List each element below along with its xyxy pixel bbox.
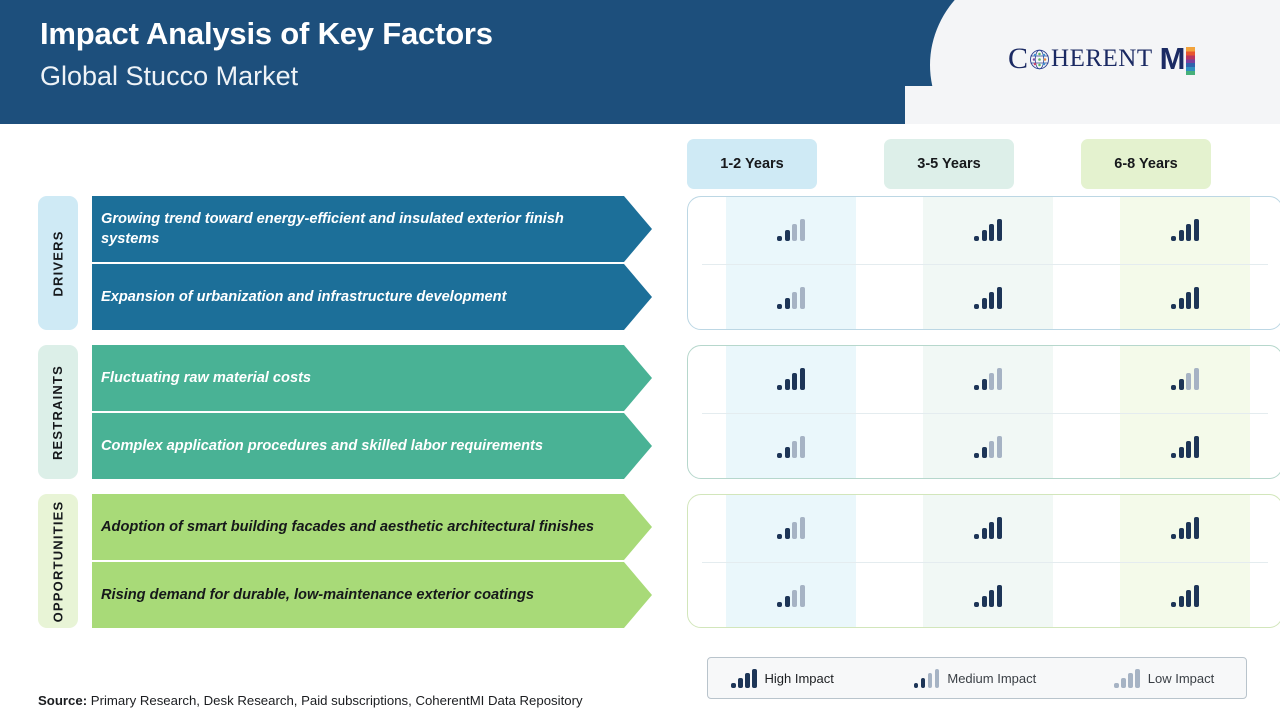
factor-banner-arrow-tip: [624, 494, 652, 560]
factor-banner-arrow-tip: [624, 264, 652, 330]
impact-matrix-restraints: [687, 345, 1280, 479]
impact-bar: [745, 673, 750, 688]
impact-bar: [800, 368, 805, 390]
factor-banner-arrow-tip: [624, 196, 652, 262]
impact-cell: [1120, 495, 1250, 561]
impact-cell: [726, 265, 856, 331]
factor-banner-body: Rising demand for durable, low-maintenan…: [92, 562, 624, 628]
impact-bar: [1186, 224, 1191, 241]
impact-bar: [997, 219, 1002, 241]
factor-banner-list: Adoption of smart building facades and a…: [92, 494, 652, 628]
impact-bar: [1179, 379, 1184, 390]
high-impact-bars-icon: [731, 669, 757, 688]
title-block: Impact Analysis of Key Factors Global St…: [40, 12, 493, 96]
page-title: Impact Analysis of Key Factors: [40, 12, 493, 56]
medium-impact-bars-icon: [777, 436, 805, 458]
high-impact-bars-icon: [974, 517, 1002, 539]
impact-cell: [923, 414, 1053, 480]
factor-banner-arrow-tip: [624, 562, 652, 628]
impact-bar: [974, 236, 979, 241]
impact-bar: [1179, 596, 1184, 607]
impact-cell: [1120, 563, 1250, 629]
impact-cell: [923, 495, 1053, 561]
impact-bar: [785, 379, 790, 390]
impact-bar: [1179, 528, 1184, 539]
high-impact-bars-icon: [1171, 219, 1199, 241]
factor-banner[interactable]: Growing trend toward energy-efficient an…: [92, 196, 652, 262]
impact-cell: [923, 346, 1053, 412]
impact-cell: [1120, 346, 1250, 412]
impact-bar: [997, 287, 1002, 309]
medium-impact-bars-icon: [974, 368, 1002, 390]
impact-bar: [792, 224, 797, 241]
impact-bar: [1186, 522, 1191, 539]
impact-bar: [1171, 304, 1176, 309]
group-tab-drivers[interactable]: DRIVERS: [38, 196, 78, 330]
impact-bar: [1194, 368, 1199, 390]
factor-label: Expansion of urbanization and infrastruc…: [101, 287, 506, 308]
group-tab-opportunities[interactable]: OPPORTUNITIES: [38, 494, 78, 628]
source-text: Primary Research, Desk Research, Paid su…: [87, 693, 582, 708]
impact-bar: [792, 292, 797, 309]
factor-row: Adoption of smart building facades and a…: [92, 494, 652, 560]
impact-matrix-opportunities: [687, 494, 1280, 628]
impact-bar: [777, 304, 782, 309]
factor-banner-body: Expansion of urbanization and infrastruc…: [92, 264, 624, 330]
impact-bar: [921, 678, 926, 688]
impact-bar: [777, 602, 782, 607]
impact-cell: [923, 197, 1053, 263]
high-impact-bars-icon: [1171, 436, 1199, 458]
medium-impact-bars-icon: [777, 219, 805, 241]
impact-bar: [989, 441, 994, 458]
impact-bar: [1194, 436, 1199, 458]
impact-bar: [792, 373, 797, 390]
impact-cell: [726, 495, 856, 561]
impact-bar: [1186, 590, 1191, 607]
impact-bar: [982, 596, 987, 607]
impact-bar: [785, 447, 790, 458]
factor-label: Fluctuating raw material costs: [101, 368, 311, 389]
impact-bar: [997, 436, 1002, 458]
factor-label: Growing trend toward energy-efficient an…: [101, 209, 610, 250]
impact-bar: [731, 683, 736, 688]
impact-bar: [1194, 287, 1199, 309]
impact-cell: [1120, 197, 1250, 263]
factor-banner-body: Fluctuating raw material costs: [92, 345, 624, 411]
impact-bar: [792, 522, 797, 539]
logo-letter-m: M: [1160, 44, 1185, 74]
impact-bar: [752, 669, 757, 688]
impact-bar: [974, 534, 979, 539]
impact-bar: [1171, 534, 1176, 539]
slide-root: Impact Analysis of Key Factors Global St…: [0, 0, 1280, 720]
impact-bar: [989, 590, 994, 607]
medium-impact-bars-icon: [777, 517, 805, 539]
impact-bar: [1121, 678, 1126, 688]
impact-bar: [997, 368, 1002, 390]
impact-cell: [726, 346, 856, 412]
impact-matrix-drivers: [687, 196, 1280, 330]
impact-bar: [1179, 298, 1184, 309]
impact-bar: [785, 298, 790, 309]
column-header-1-2-years[interactable]: 1-2 Years: [687, 139, 817, 189]
medium-impact-bars-icon: [777, 287, 805, 309]
impact-bar: [800, 436, 805, 458]
legend-label: Medium Impact: [947, 671, 1036, 686]
impact-bar: [792, 590, 797, 607]
legend-item-low: Low Impact: [1114, 669, 1214, 688]
impact-cell: [726, 563, 856, 629]
impact-bar: [982, 379, 987, 390]
column-header-label: 1-2 Years: [720, 156, 783, 172]
impact-bar: [1171, 236, 1176, 241]
factor-banner-arrow-tip: [624, 345, 652, 411]
factor-row: Expansion of urbanization and infrastruc…: [92, 264, 652, 330]
high-impact-bars-icon: [777, 368, 805, 390]
impact-cell: [923, 563, 1053, 629]
impact-cell: [726, 197, 856, 263]
high-impact-bars-icon: [1171, 287, 1199, 309]
column-header-label: 3-5 Years: [917, 156, 980, 172]
impact-bar: [982, 528, 987, 539]
group-tab-restraints[interactable]: RESTRAINTS: [38, 345, 78, 479]
legend-label: High Impact: [765, 671, 834, 686]
impact-bar: [800, 287, 805, 309]
column-header-3-5-years[interactable]: 3-5 Years: [884, 139, 1014, 189]
impact-bar: [1171, 453, 1176, 458]
impact-bar: [1135, 669, 1140, 688]
legend-item-medium: Medium Impact: [914, 669, 1036, 688]
high-impact-bars-icon: [974, 287, 1002, 309]
high-impact-bars-icon: [974, 585, 1002, 607]
impact-bar: [1128, 673, 1133, 688]
impact-bar: [1194, 585, 1199, 607]
factor-banner[interactable]: Adoption of smart building facades and a…: [92, 494, 652, 560]
medium-impact-bars-icon: [914, 669, 940, 688]
medium-impact-bars-icon: [974, 436, 1002, 458]
globe-icon: [1029, 49, 1050, 70]
factor-label: Complex application procedures and skill…: [101, 436, 543, 457]
factor-row: Growing trend toward energy-efficient an…: [92, 196, 652, 262]
logo-letter-c: C: [1008, 44, 1028, 74]
factor-banner[interactable]: Fluctuating raw material costs: [92, 345, 652, 411]
factor-label: Rising demand for durable, low-maintenan…: [101, 585, 534, 606]
logo-letters-herent: HERENT: [1051, 44, 1153, 74]
medium-impact-bars-icon: [777, 585, 805, 607]
impact-bar: [1179, 447, 1184, 458]
impact-bar: [792, 441, 797, 458]
impact-bar: [1171, 602, 1176, 607]
impact-cell: [923, 265, 1053, 331]
impact-bar: [997, 517, 1002, 539]
impact-bar: [974, 602, 979, 607]
legend-item-high: High Impact: [731, 669, 834, 688]
impact-bar: [738, 678, 743, 688]
impact-bar: [997, 585, 1002, 607]
impact-bar: [989, 373, 994, 390]
factor-row: Fluctuating raw material costs: [92, 345, 652, 411]
impact-bar: [935, 669, 940, 688]
impact-bar: [1194, 219, 1199, 241]
impact-bar: [1186, 441, 1191, 458]
factor-banner-body: Adoption of smart building facades and a…: [92, 494, 624, 560]
impact-bar: [974, 385, 979, 390]
factor-banner[interactable]: Rising demand for durable, low-maintenan…: [92, 562, 652, 628]
high-impact-bars-icon: [1171, 585, 1199, 607]
impact-bar: [800, 585, 805, 607]
impact-bar: [777, 534, 782, 539]
page-subtitle: Global Stucco Market: [40, 56, 493, 96]
impact-bar: [982, 230, 987, 241]
impact-bar: [1179, 230, 1184, 241]
impact-bar: [989, 292, 994, 309]
factor-group-opportunities: OPPORTUNITIESAdoption of smart building …: [38, 494, 1245, 628]
impact-bar: [989, 522, 994, 539]
legend-label: Low Impact: [1148, 671, 1214, 686]
impact-bar: [777, 453, 782, 458]
impact-bar: [928, 673, 933, 688]
factor-banner-list: Growing trend toward energy-efficient an…: [92, 196, 652, 330]
factor-banner[interactable]: Complex application procedures and skill…: [92, 413, 652, 479]
high-impact-bars-icon: [1171, 517, 1199, 539]
impact-bar: [989, 224, 994, 241]
high-impact-bars-icon: [974, 219, 1002, 241]
factor-row: Rising demand for durable, low-maintenan…: [92, 562, 652, 628]
factor-banner-body: Complex application procedures and skill…: [92, 413, 624, 479]
impact-cell: [1120, 265, 1250, 331]
medium-impact-bars-icon: [1171, 368, 1199, 390]
group-tab-label: DRIVERS: [51, 230, 66, 296]
impact-bar: [982, 447, 987, 458]
low-impact-bars-icon: [1114, 669, 1140, 688]
impact-bar: [777, 236, 782, 241]
impact-bar: [974, 304, 979, 309]
impact-bar: [1194, 517, 1199, 539]
factor-group-drivers: DRIVERSGrowing trend toward energy-effic…: [38, 196, 1245, 330]
impact-bar: [974, 453, 979, 458]
impact-cell: [726, 414, 856, 480]
factor-banner-body: Growing trend toward energy-efficient an…: [92, 196, 624, 262]
source-note: Source: Primary Research, Desk Research,…: [38, 693, 583, 708]
column-header-6-8-years[interactable]: 6-8 Years: [1081, 139, 1211, 189]
factor-banner-list: Fluctuating raw material costsComplex ap…: [92, 345, 652, 479]
impact-bar: [800, 219, 805, 241]
factor-banner[interactable]: Expansion of urbanization and infrastruc…: [92, 264, 652, 330]
impact-bar: [1114, 683, 1119, 688]
factor-label: Adoption of smart building facades and a…: [101, 517, 594, 538]
group-tab-label: OPPORTUNITIES: [51, 500, 66, 622]
column-header-label: 6-8 Years: [1114, 156, 1177, 172]
group-tab-label: RESTRAINTS: [51, 364, 66, 459]
impact-bar: [1186, 373, 1191, 390]
factor-banner-arrow-tip: [624, 413, 652, 479]
impact-bar: [800, 517, 805, 539]
impact-bar: [785, 596, 790, 607]
impact-legend: High Impact Medium Impact Low Impact: [707, 657, 1247, 699]
impact-bar: [982, 298, 987, 309]
impact-bar: [914, 683, 919, 688]
impact-bar: [1171, 385, 1176, 390]
logo-letter-i-gradient: [1186, 47, 1195, 75]
impact-bar: [777, 385, 782, 390]
impact-bar: [1186, 292, 1191, 309]
source-prefix: Source:: [38, 693, 87, 708]
impact-cell: [1120, 414, 1250, 480]
header-curve-fill: [905, 86, 1280, 124]
factor-row: Complex application procedures and skill…: [92, 413, 652, 479]
factor-group-restraints: RESTRAINTSFluctuating raw material costs…: [38, 345, 1245, 479]
coherentmi-logo[interactable]: C HERENT M: [1008, 44, 1195, 74]
impact-bar: [785, 528, 790, 539]
impact-bar: [785, 230, 790, 241]
